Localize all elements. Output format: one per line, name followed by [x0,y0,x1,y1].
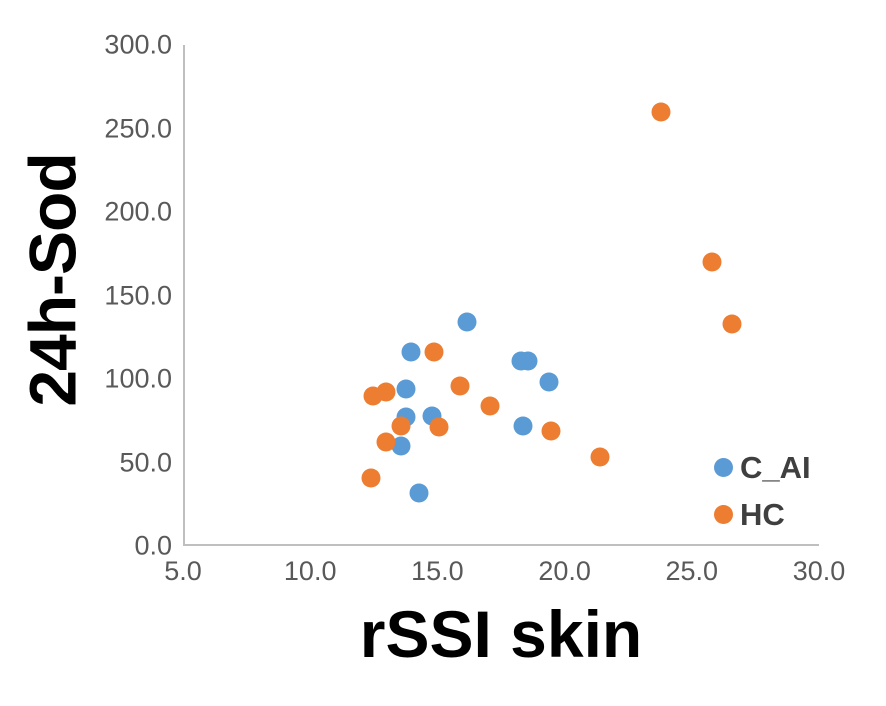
data-point-hc [722,314,741,333]
x-tick-label: 20.0 [505,556,625,587]
data-point-c-ai [539,373,558,392]
y-tick-label: 200.0 [22,197,172,228]
x-tick-label: 10.0 [250,556,370,587]
y-tick-label: 300.0 [22,30,172,61]
data-point-hc [702,253,721,272]
data-point-hc [450,376,469,395]
data-point-c-ai [514,416,533,435]
data-point-c-ai [458,313,477,332]
y-tick-label: 50.0 [22,447,172,478]
x-axis-title: rSSI skin [183,596,819,672]
legend-item-c-ai[interactable]: C_AI [714,444,811,491]
data-point-hc [430,418,449,437]
data-point-c-ai [402,343,421,362]
legend-item-hc[interactable]: HC [714,491,811,538]
chart-legend: C_AIHC [714,444,811,538]
y-tick-label: 250.0 [22,113,172,144]
x-tick-label: 25.0 [632,556,752,587]
data-point-hc [542,421,561,440]
y-tick-label: 100.0 [22,364,172,395]
data-point-c-ai [397,380,416,399]
legend-marker-icon [714,505,733,524]
data-point-hc [425,343,444,362]
legend-label: HC [740,497,785,533]
data-point-hc [481,396,500,415]
x-tick-label: 30.0 [759,556,879,587]
data-point-c-ai [519,351,538,370]
data-point-hc [376,383,395,402]
x-tick-label: 15.0 [377,556,497,587]
data-point-hc [361,468,380,487]
data-point-hc [651,102,670,121]
data-point-hc [590,448,609,467]
data-point-hc [392,416,411,435]
data-point-hc [376,433,395,452]
y-tick-label: 150.0 [22,280,172,311]
data-point-c-ai [410,483,429,502]
x-tick-label: 5.0 [123,556,243,587]
legend-marker-icon [714,458,733,477]
scatter-chart: 24h-Sod 0.050.0100.0150.0200.0250.0300.0… [0,0,886,706]
legend-label: C_AI [740,450,811,486]
